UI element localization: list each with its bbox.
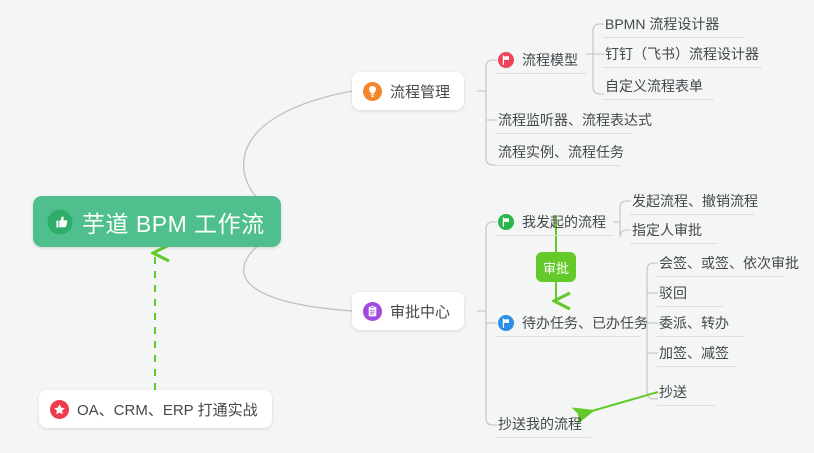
node-process-model-label: 流程模型 — [522, 50, 578, 70]
node-bpmn-designer-label: BPMN 流程设计器 — [605, 14, 719, 34]
approve-badge: 审批 — [536, 252, 576, 282]
node-custom-process-form[interactable]: 自定义流程表单 — [603, 72, 714, 100]
node-approval-center-label: 审批中心 — [390, 301, 450, 322]
thumbs-up-icon — [47, 209, 73, 235]
clipboard-icon — [363, 302, 382, 321]
node-bpmn-designer[interactable]: BPMN 流程设计器 — [603, 10, 744, 38]
mindmap-canvas: 芋道 BPM 工作流 流程管理 流程模型 BPMN 流程设计器 钉钉 — [0, 0, 814, 453]
node-delegate-transfer-label: 委派、转办 — [659, 313, 729, 333]
edge-my-initiated-bracket — [613, 201, 631, 237]
node-process-listener-expression[interactable]: 流程监听器、流程表达式 — [496, 106, 633, 134]
root-node[interactable]: 芋道 BPM 工作流 — [33, 196, 281, 247]
node-process-instance-task[interactable]: 流程实例、流程任务 — [496, 138, 620, 166]
node-oa-crm-erp[interactable]: OA、CRM、ERP 打通实战 — [39, 390, 272, 428]
node-process-management[interactable]: 流程管理 — [352, 72, 464, 110]
approve-badge-label: 审批 — [543, 258, 569, 277]
node-cc[interactable]: 抄送 — [657, 378, 715, 406]
node-process-model[interactable]: 流程模型 — [496, 46, 586, 74]
node-custom-process-form-label: 自定义流程表单 — [605, 76, 703, 96]
node-todo-done-tasks-label: 待办任务、已办任务 — [522, 313, 648, 333]
node-dingtalk-feishu-designer-label: 钉钉（飞书）流程设计器 — [605, 44, 759, 64]
node-cc-to-me-process[interactable]: 抄送我的流程 — [496, 410, 591, 438]
node-countersign-orsign-sequential[interactable]: 会签、或签、依次审批 — [657, 249, 785, 277]
node-process-management-label: 流程管理 — [390, 81, 450, 102]
node-reject-label: 驳回 — [659, 283, 687, 303]
node-assigned-approval-label: 指定人审批 — [632, 220, 702, 240]
edge-process-model-bracket — [586, 24, 604, 94]
node-cc-label: 抄送 — [659, 382, 687, 402]
node-process-listener-expression-label: 流程监听器、流程表达式 — [498, 110, 652, 130]
node-start-cancel-process[interactable]: 发起流程、撤销流程 — [630, 187, 754, 215]
node-add-remove-sign-label: 加签、减签 — [659, 343, 729, 363]
node-delegate-transfer[interactable]: 委派、转办 — [657, 309, 745, 337]
flag-icon — [498, 52, 514, 68]
lightbulb-icon — [363, 82, 382, 101]
root-label: 芋道 BPM 工作流 — [82, 205, 265, 239]
node-start-cancel-process-label: 发起流程、撤销流程 — [632, 191, 758, 211]
node-process-instance-task-label: 流程实例、流程任务 — [498, 142, 624, 162]
node-dingtalk-feishu-designer[interactable]: 钉钉（飞书）流程设计器 — [603, 40, 762, 68]
flag-icon — [498, 315, 514, 331]
star-icon — [50, 400, 69, 419]
node-countersign-orsign-sequential-label: 会签、或签、依次审批 — [659, 253, 799, 273]
node-add-remove-sign[interactable]: 加签、减签 — [657, 339, 737, 367]
node-reject[interactable]: 驳回 — [657, 279, 723, 307]
edge-approval-center-bracket — [477, 222, 497, 425]
node-my-initiated-process-label: 我发起的流程 — [522, 212, 606, 232]
node-cc-to-me-process-label: 抄送我的流程 — [498, 414, 582, 434]
node-todo-done-tasks[interactable]: 待办任务、已办任务 — [496, 309, 639, 337]
node-oa-crm-erp-label: OA、CRM、ERP 打通实战 — [77, 399, 258, 420]
node-assigned-approval[interactable]: 指定人审批 — [630, 216, 716, 244]
node-my-initiated-process[interactable]: 我发起的流程 — [496, 208, 613, 236]
flag-icon — [498, 214, 514, 230]
edge-process-management-bracket — [477, 60, 497, 165]
node-approval-center[interactable]: 审批中心 — [352, 292, 464, 330]
